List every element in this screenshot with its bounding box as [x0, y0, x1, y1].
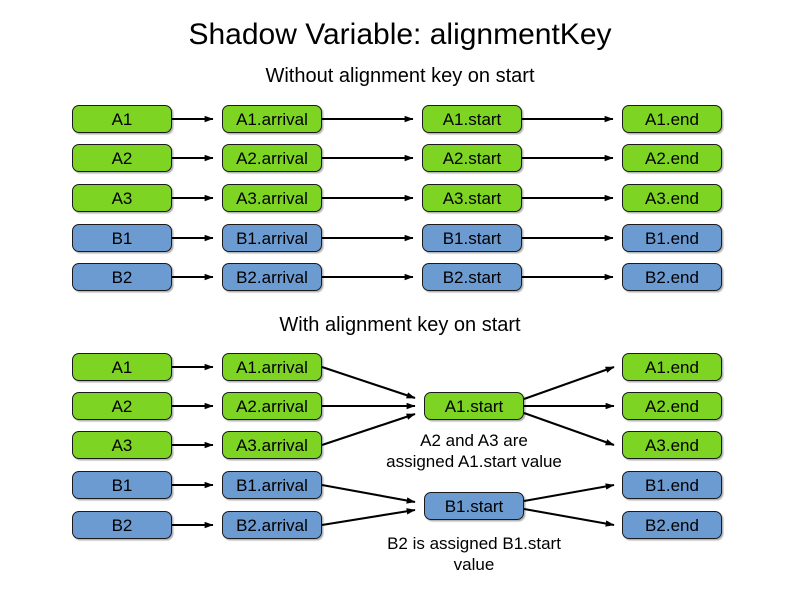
- caption-b-line2: value: [344, 554, 604, 575]
- node-end[interactable]: A1.end: [622, 353, 722, 381]
- node-end[interactable]: A2.end: [622, 392, 722, 420]
- section1-edges: [0, 0, 800, 600]
- caption-a-alignment: A2 and A3 are assigned A1.start value: [344, 430, 604, 472]
- node-entity[interactable]: B1: [72, 471, 172, 499]
- node-arrival[interactable]: B1.arrival: [222, 224, 322, 252]
- node-start[interactable]: A2.start: [422, 144, 522, 172]
- node-end[interactable]: A2.end: [622, 144, 722, 172]
- node-end[interactable]: B2.end: [622, 263, 722, 291]
- section-heading-with: With alignment key on start: [0, 313, 800, 337]
- node-arrival[interactable]: A3.arrival: [222, 431, 322, 459]
- node-start[interactable]: B2.start: [422, 263, 522, 291]
- node-entity[interactable]: B2: [72, 511, 172, 539]
- node-arrival[interactable]: A3.arrival: [222, 184, 322, 212]
- caption-a-line2: assigned A1.start value: [344, 451, 604, 472]
- caption-b-line1: B2 is assigned B1.start: [344, 533, 604, 554]
- node-end[interactable]: B1.end: [622, 471, 722, 499]
- node-arrival[interactable]: A2.arrival: [222, 144, 322, 172]
- node-arrival[interactable]: A2.arrival: [222, 392, 322, 420]
- node-entity[interactable]: B2: [72, 263, 172, 291]
- node-entity[interactable]: B1: [72, 224, 172, 252]
- node-end[interactable]: A3.end: [622, 184, 722, 212]
- node-shared-start[interactable]: B1.start: [424, 492, 524, 520]
- node-arrival[interactable]: B2.arrival: [222, 263, 322, 291]
- section-heading-without: Without alignment key on start: [0, 64, 800, 88]
- caption-b-alignment: B2 is assigned B1.start value: [344, 533, 604, 575]
- node-arrival[interactable]: A1.arrival: [222, 105, 322, 133]
- page-title: Shadow Variable: alignmentKey: [0, 18, 800, 52]
- node-entity[interactable]: A2: [72, 392, 172, 420]
- node-arrival[interactable]: B2.arrival: [222, 511, 322, 539]
- node-start[interactable]: B1.start: [422, 224, 522, 252]
- section2-edges: [0, 0, 800, 600]
- node-entity[interactable]: A3: [72, 431, 172, 459]
- node-end[interactable]: A1.end: [622, 105, 722, 133]
- node-end[interactable]: A3.end: [622, 431, 722, 459]
- node-entity[interactable]: A1: [72, 353, 172, 381]
- node-entity[interactable]: A3: [72, 184, 172, 212]
- node-entity[interactable]: A1: [72, 105, 172, 133]
- node-start[interactable]: A3.start: [422, 184, 522, 212]
- node-shared-start[interactable]: A1.start: [424, 392, 524, 420]
- node-end[interactable]: B1.end: [622, 224, 722, 252]
- node-arrival[interactable]: A1.arrival: [222, 353, 322, 381]
- node-end[interactable]: B2.end: [622, 511, 722, 539]
- node-start[interactable]: A1.start: [422, 105, 522, 133]
- node-arrival[interactable]: B1.arrival: [222, 471, 322, 499]
- diagram-canvas: Shadow Variable: alignmentKey Without al…: [0, 0, 800, 600]
- caption-a-line1: A2 and A3 are: [344, 430, 604, 451]
- node-entity[interactable]: A2: [72, 144, 172, 172]
